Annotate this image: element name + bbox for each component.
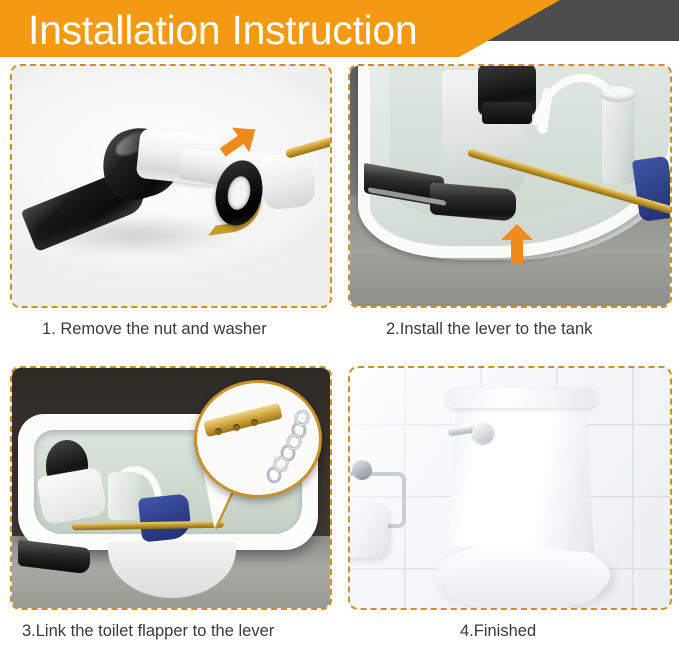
overflow-tube-opening xyxy=(600,86,636,102)
step-1-caption: 1. Remove the nut and washer xyxy=(42,319,267,339)
arm-hole-2 xyxy=(233,424,240,431)
step-4-image-panel xyxy=(348,366,672,610)
flush-lever-plate xyxy=(472,422,494,444)
orange-arrow-icon xyxy=(500,224,534,264)
arm-hole-1 xyxy=(215,428,222,435)
step-1-image-panel xyxy=(10,64,332,308)
header-banner: Installation Instruction xyxy=(0,0,679,60)
flapper-chain xyxy=(264,410,312,488)
toilet-tank-lid xyxy=(446,388,598,408)
toilet-paper-holder-knob xyxy=(352,460,372,480)
toilet-tank xyxy=(448,392,594,552)
step-3-image-panel xyxy=(10,366,332,610)
page-title: Installation Instruction xyxy=(28,4,417,56)
fill-valve-black-band xyxy=(482,102,532,124)
step-2-caption: 2.Install the lever to the tank xyxy=(386,319,592,339)
toilet-seat-inner xyxy=(444,564,602,608)
overflow-tube xyxy=(108,472,140,520)
secondary-white-nut xyxy=(259,151,316,210)
step-4-caption: 4.Finished xyxy=(460,621,536,641)
step-3-caption: 3.Link the toilet flapper to the lever xyxy=(22,621,274,641)
overflow-tube xyxy=(602,92,634,184)
step-4-illustration xyxy=(350,368,670,608)
step-1-illustration xyxy=(12,66,330,306)
installed-lever-handle xyxy=(364,168,514,212)
step-2-illustration xyxy=(350,66,670,306)
step-2-image-panel xyxy=(348,64,672,308)
toilet-paper-roll xyxy=(350,504,388,558)
step-3-illustration xyxy=(12,368,330,608)
arm-hole-3 xyxy=(251,419,258,426)
